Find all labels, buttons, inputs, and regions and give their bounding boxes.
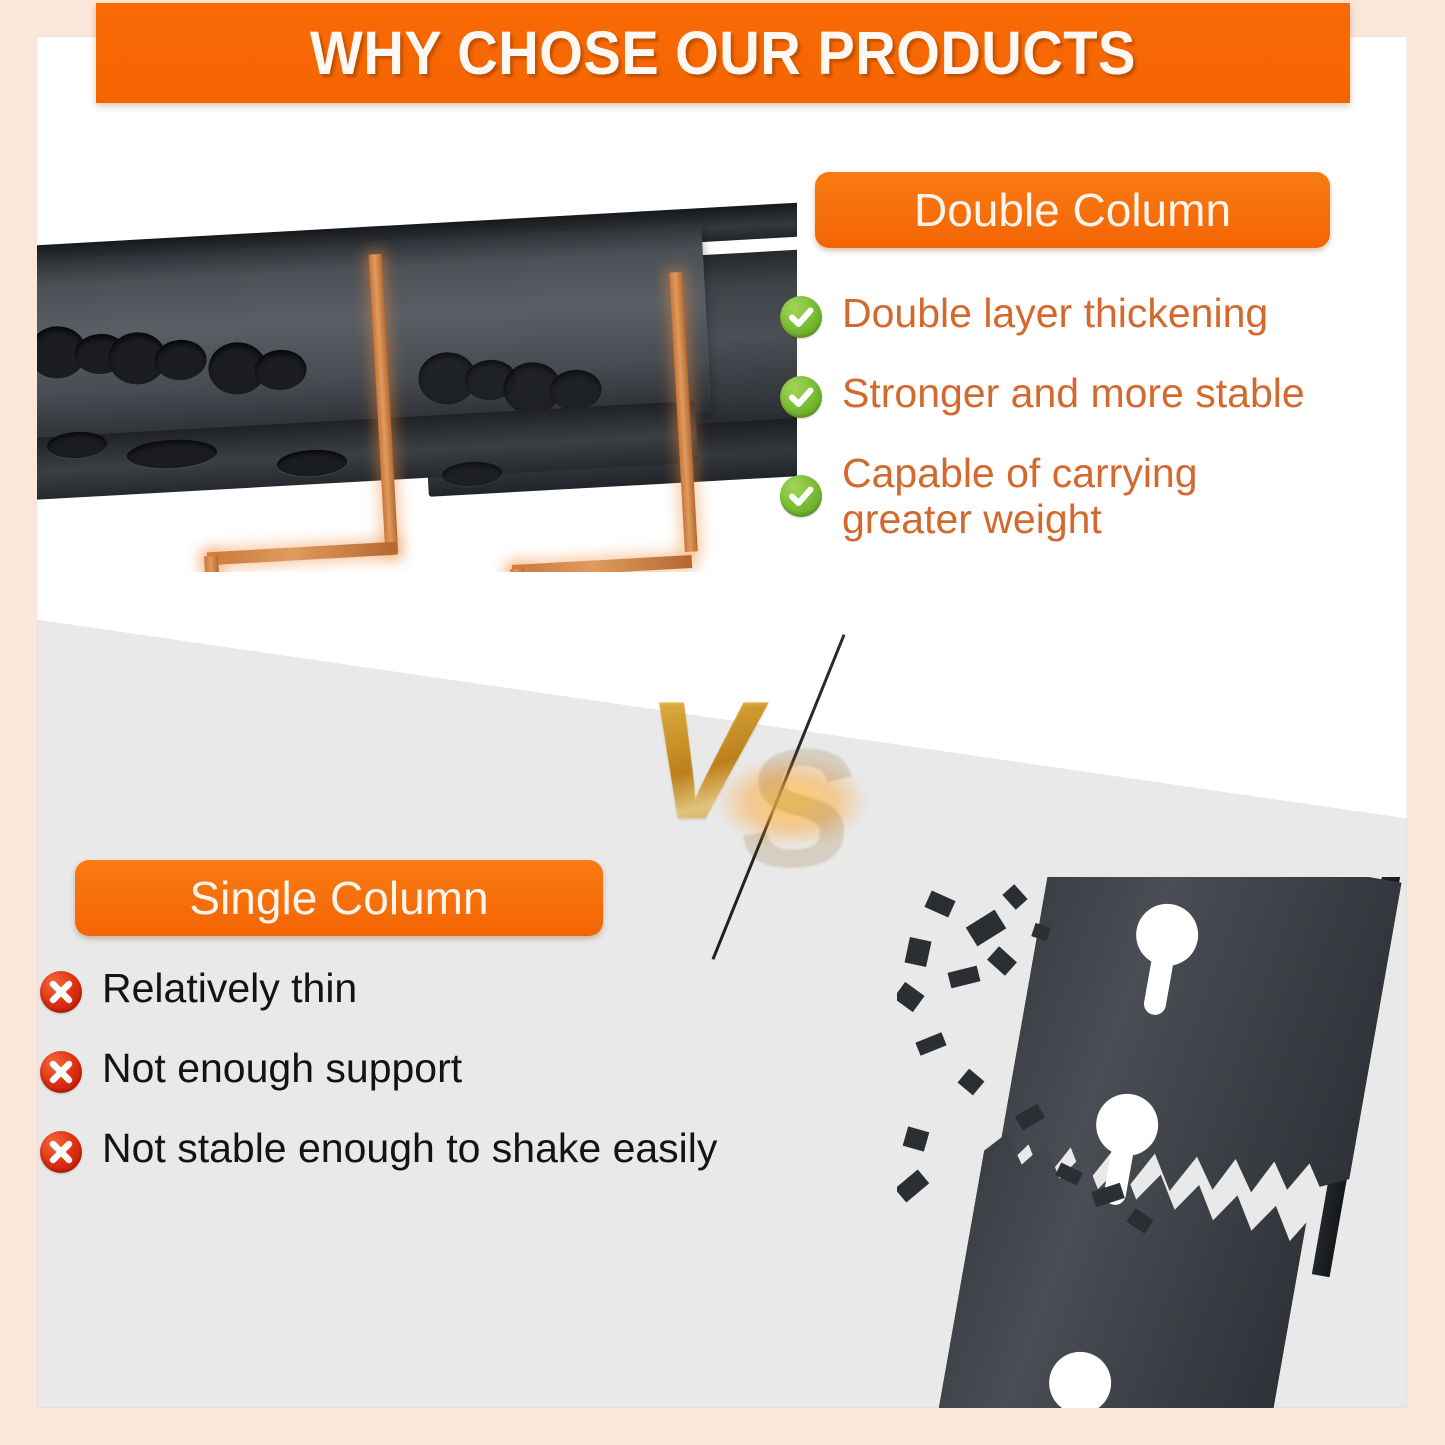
double-column-beam-image <box>37 132 797 572</box>
list-item-label: Stronger and more stable <box>842 370 1305 416</box>
double-column-badge-label: Double Column <box>914 183 1231 237</box>
vs-label: VS <box>645 664 849 857</box>
cross-circle-icon <box>40 1051 82 1093</box>
infographic-root: VS <box>0 0 1445 1445</box>
list-item-label: Not stable enough to shake easily <box>102 1125 717 1171</box>
header-banner: WHY CHOSE OUR PRODUCTS <box>96 3 1350 103</box>
cons-list: Relatively thin Not enough support Not s… <box>40 965 830 1205</box>
pros-list: Double layer thickening Stronger and mor… <box>780 290 1380 575</box>
list-item-label: Double layer thickening <box>842 290 1268 336</box>
list-item: Double layer thickening <box>780 290 1380 338</box>
list-item: Relatively thin <box>40 965 830 1013</box>
check-circle-icon <box>780 475 822 517</box>
list-item: Stronger and more stable <box>780 370 1380 418</box>
single-column-badge: Single Column <box>75 860 603 936</box>
list-item-label: Relatively thin <box>102 965 357 1011</box>
list-item-label-line2: greater weight <box>842 496 1102 542</box>
list-item: Not stable enough to shake easily <box>40 1125 830 1173</box>
list-item: Not enough support <box>40 1045 830 1093</box>
list-item-label-line1: Capable of carrying <box>842 450 1198 496</box>
double-column-badge: Double Column <box>815 172 1330 248</box>
versus-mark: VS <box>627 662 927 922</box>
cross-circle-icon <box>40 1131 82 1173</box>
page-title: WHY CHOSE OUR PRODUCTS <box>310 18 1136 88</box>
list-item: Capable of carrying greater weight <box>780 450 1380 543</box>
single-column-badge-label: Single Column <box>189 871 488 925</box>
check-circle-icon <box>780 296 822 338</box>
single-column-broken-image <box>897 877 1407 1408</box>
list-item-label: Not enough support <box>102 1045 462 1091</box>
cross-circle-icon <box>40 971 82 1013</box>
check-circle-icon <box>780 376 822 418</box>
list-item-label-multiline: Capable of carrying greater weight <box>842 450 1198 543</box>
